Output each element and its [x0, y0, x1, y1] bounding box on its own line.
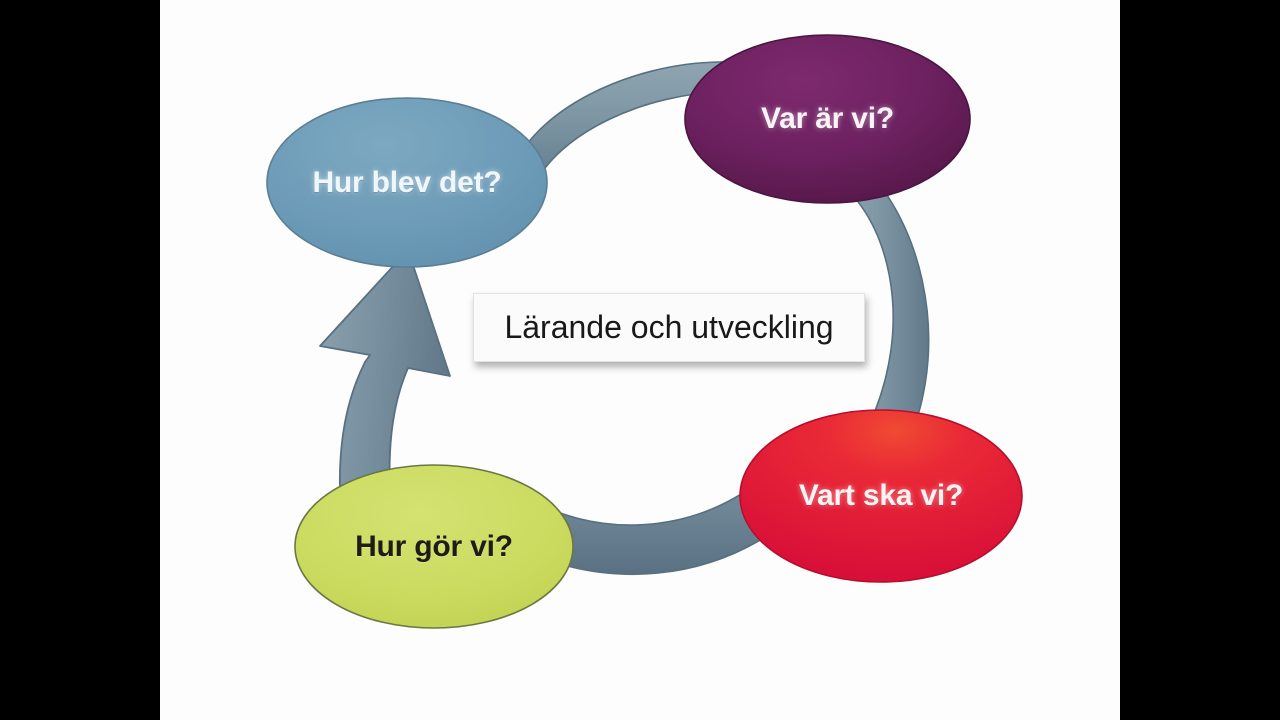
center-caption-box: Lärande och utveckling [473, 293, 865, 362]
node-hur-blev-det[interactable] [267, 98, 547, 267]
center-caption-text: Lärande och utveckling [504, 309, 833, 346]
node-hur-gor-vi[interactable] [295, 465, 573, 628]
screenshot-stage: Hur blev det? Var är vi? Vart ska vi? Hu… [0, 0, 1280, 720]
node-var-ar-vi[interactable] [685, 35, 970, 203]
slide-canvas: Hur blev det? Var är vi? Vart ska vi? Hu… [160, 0, 1120, 720]
node-vart-ska-vi[interactable] [740, 410, 1022, 582]
